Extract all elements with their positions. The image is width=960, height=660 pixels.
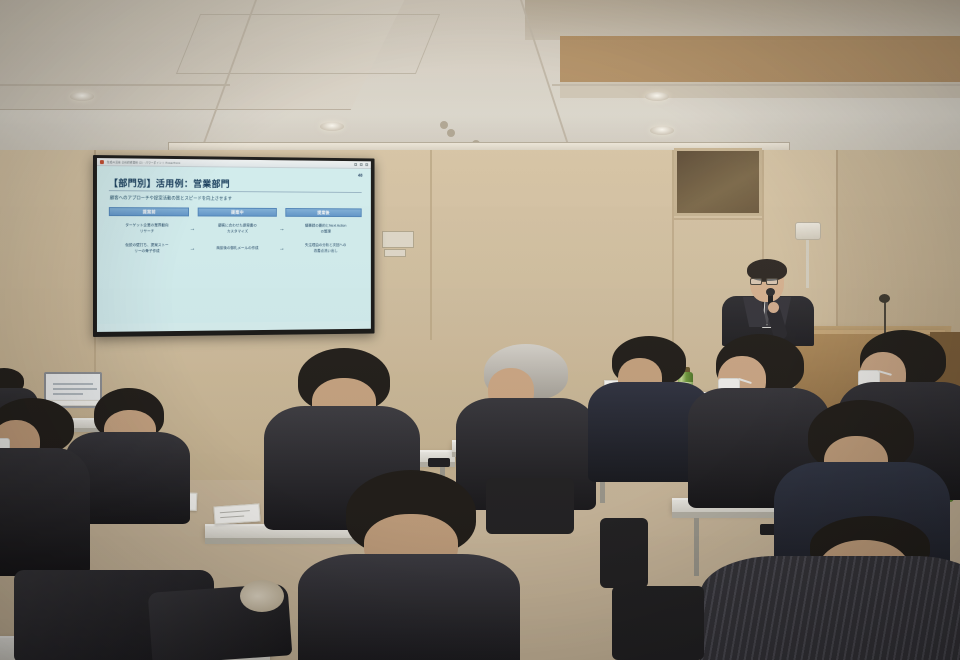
phase-box-before: 提案前 <box>109 207 189 216</box>
slide-title: 【部門別】活用例：営業部門 <box>109 178 364 190</box>
ceiling <box>0 0 960 152</box>
paper-text-line <box>220 510 250 513</box>
wall-control-plate[interactable] <box>382 231 414 248</box>
ceiling-access-hatch <box>176 14 440 74</box>
mic-stand <box>884 300 886 334</box>
projected-image: 生成AI活用 全社研修資料 (2) - パワーポイント PowerPoint 4… <box>97 158 371 332</box>
flow-cell: 顧客に合わせた提案書のカスタマイズ <box>200 223 274 234</box>
mic-head-icon <box>879 294 890 303</box>
seminar-room-photo: 生成AI活用 全社研修資料 (2) - パワーポイント PowerPoint 4… <box>0 0 960 660</box>
suit-jacket-striped <box>700 556 960 660</box>
arrow-icon: → <box>185 226 200 232</box>
flow-row: ターゲット企業の業界動向リサーチ → 顧客に合わせた提案書のカスタマイズ → 議… <box>109 223 362 234</box>
slide-number: 48 <box>358 173 363 178</box>
phase-box-during: 提案中 <box>198 208 277 217</box>
phase-header-row: 提案前 提案中 提案後 <box>109 207 362 217</box>
suit-jacket <box>298 554 520 660</box>
flow-cell: ターゲット企業の業界動向リサーチ <box>109 223 185 234</box>
smartphone[interactable] <box>428 458 450 467</box>
wall-control-plate-lower[interactable] <box>384 249 406 257</box>
window-controls[interactable] <box>354 163 368 166</box>
presenter-hand <box>768 302 779 313</box>
slide-footer <box>97 319 371 322</box>
minimize-icon[interactable] <box>354 163 357 166</box>
wall-seam <box>430 150 432 340</box>
flow-row: 仮説の壁打ち、提案ストーリーの骨子作成 → 商談後の御礼メールの作成 → 失注理… <box>109 243 362 254</box>
flow-cell: 仮説の壁打ち、提案ストーリーの骨子作成 <box>109 243 185 254</box>
attendee <box>700 516 960 660</box>
ceiling-groove <box>552 84 960 86</box>
arrow-icon: → <box>274 226 289 232</box>
phase-label: 提案後 <box>317 210 330 216</box>
scarf <box>240 580 284 612</box>
paper-text-line <box>220 516 244 519</box>
handout-paper[interactable] <box>213 503 260 524</box>
flow-cell: 失注理由の分析と次回への改善点洗い出し <box>289 243 361 254</box>
attendee <box>298 470 518 660</box>
arrow-icon: → <box>185 246 200 252</box>
projection-screen: 生成AI活用 全社研修資料 (2) - パワーポイント PowerPoint 4… <box>93 155 375 337</box>
microphone-head-icon <box>766 288 775 296</box>
maximize-icon[interactable] <box>360 163 363 166</box>
flow-cell: 商談後の御礼メールの作成 <box>200 246 274 251</box>
downlight-icon <box>320 122 344 131</box>
ceiling-groove <box>0 84 230 86</box>
chair-back <box>486 478 574 534</box>
eyeglasses-icon <box>750 278 762 285</box>
laptop-content-line <box>53 383 93 385</box>
desk-leg <box>694 518 699 576</box>
eyeglasses-bridge <box>762 281 766 282</box>
powerpoint-file-label: 生成AI活用 全社研修資料 (2) - パワーポイント PowerPoint <box>107 160 352 167</box>
wall-seam <box>672 218 764 220</box>
attendee <box>0 398 88 568</box>
powerpoint-logo-icon <box>100 160 104 164</box>
ceiling-vent-icon <box>674 148 762 216</box>
downlight-icon <box>70 92 94 101</box>
ceiling-sensor-icon <box>447 129 455 137</box>
ceiling-sensor-icon <box>440 121 448 129</box>
presenter <box>716 262 820 344</box>
eyeglasses-icon <box>766 278 778 285</box>
phase-label: 提案前 <box>143 209 156 215</box>
suit-jacket <box>0 448 90 576</box>
ceiling-wood-slab <box>560 36 960 88</box>
downlight-icon <box>645 92 669 101</box>
chair-back <box>612 586 704 660</box>
phase-label: 提案中 <box>231 209 244 215</box>
slide-body: 48 【部門別】活用例：営業部門 顧客へのアプローチや提案活動の質とスピードを向… <box>97 166 371 324</box>
title-divider <box>109 190 362 193</box>
wall-speaker-icon <box>795 222 821 240</box>
flow-cell: 議事録の要約とNext Actionの整理 <box>289 224 361 235</box>
chair-back <box>600 518 648 588</box>
slide-subtitle: 顧客へのアプローチや提案活動の質とスピードを向上させます <box>110 195 364 203</box>
downlight-icon <box>650 126 674 135</box>
arrow-icon: → <box>274 246 289 252</box>
ceiling-edge-beam <box>525 0 960 40</box>
phase-box-after: 提案後 <box>285 208 362 217</box>
close-icon[interactable] <box>365 163 368 166</box>
